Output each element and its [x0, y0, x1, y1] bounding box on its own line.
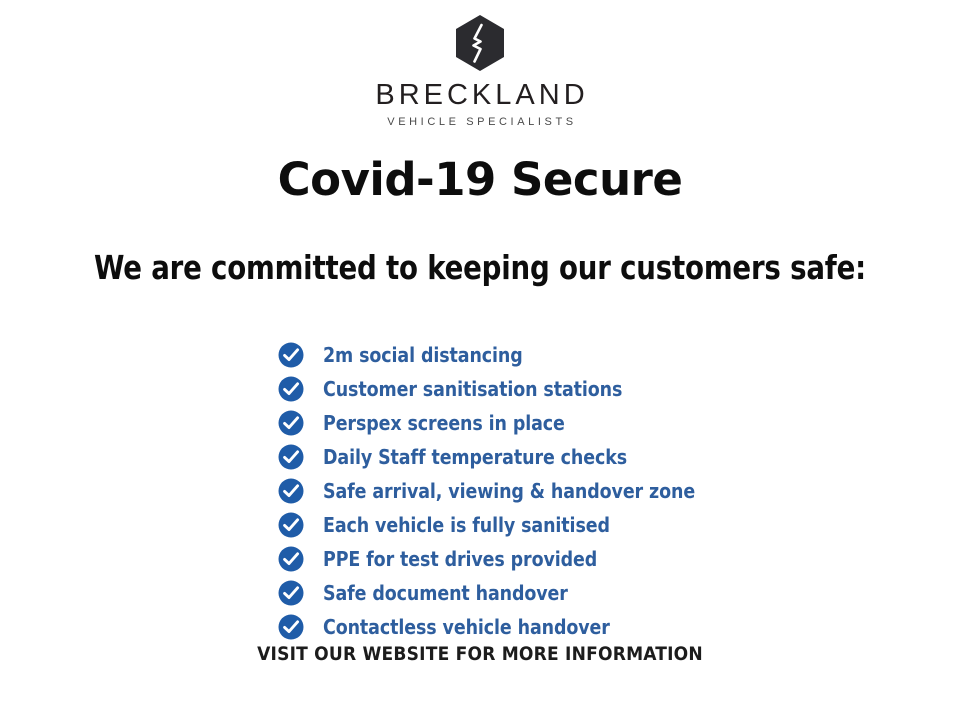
brand-wordmark: BRECKLAND [371, 81, 588, 110]
list-item: Each vehicle is fully sanitised [278, 508, 718, 542]
check-circle-icon [278, 546, 304, 572]
list-item-label: 2m social distancing [323, 345, 523, 365]
list-item-label: Safe document handover [323, 583, 568, 603]
list-item-label: PPE for test drives provided [323, 549, 597, 569]
check-circle-icon [278, 580, 304, 606]
list-item: Daily Staff temperature checks [278, 440, 718, 474]
list-item-label: Safe arrival, viewing & handover zone [323, 481, 695, 501]
list-item: 2m social distancing [278, 338, 718, 372]
check-circle-icon [278, 478, 304, 504]
check-circle-icon [278, 614, 304, 640]
check-circle-icon [278, 444, 304, 470]
list-item-label: Customer sanitisation stations [323, 379, 622, 399]
check-circle-icon [278, 512, 304, 538]
list-item-label: Each vehicle is fully sanitised [323, 515, 610, 535]
footer-note: VISIT OUR WEBSITE FOR MORE INFORMATION [0, 645, 960, 664]
check-circle-icon [278, 410, 304, 436]
list-item-label: Contactless vehicle handover [323, 617, 610, 637]
list-item: Customer sanitisation stations [278, 372, 718, 406]
list-item: Safe document handover [278, 576, 718, 610]
check-circle-icon [278, 376, 304, 402]
list-item: Perspex screens in place [278, 406, 718, 440]
check-circle-icon [278, 342, 304, 368]
page-subtitle: We are committed to keeping our customer… [94, 251, 866, 284]
list-item: Contactless vehicle handover [278, 610, 718, 644]
breckland-hexagon-logo-icon [453, 14, 507, 72]
list-item-label: Perspex screens in place [323, 413, 565, 433]
brand-tagline: VEHICLE SPECIALISTS [383, 117, 576, 128]
list-item-label: Daily Staff temperature checks [323, 447, 627, 467]
safety-measures-list: 2m social distancing Customer sanitisati… [278, 338, 718, 644]
list-item: Safe arrival, viewing & handover zone [278, 474, 718, 508]
covid-secure-poster: BRECKLAND VEHICLE SPECIALISTS Covid-19 S… [0, 0, 960, 720]
list-item: PPE for test drives provided [278, 542, 718, 576]
brand-logo-block: BRECKLAND VEHICLE SPECIALISTS [371, 14, 588, 128]
page-title: Covid-19 Secure [278, 157, 683, 202]
